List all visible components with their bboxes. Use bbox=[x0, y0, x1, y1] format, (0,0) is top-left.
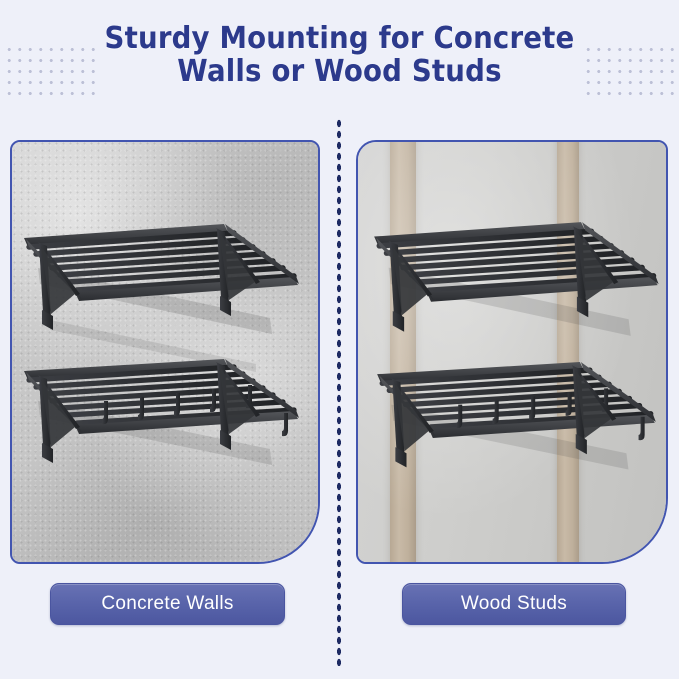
panel-concrete-image bbox=[12, 142, 318, 562]
page-title-line2: Walls or Wood Studs bbox=[27, 55, 652, 88]
shelf-upper-studs bbox=[370, 220, 666, 370]
caption-pill-concrete-walls-label: Concrete Walls bbox=[101, 593, 233, 615]
infographic-canvas: Sturdy Mounting for Concrete Walls or Wo… bbox=[0, 0, 679, 679]
panel-studs-image bbox=[358, 142, 666, 562]
page-title-line1: Sturdy Mounting for Concrete bbox=[105, 21, 575, 56]
shelf-upper-concrete bbox=[20, 222, 310, 367]
caption-pill-wood-studs-label: Wood Studs bbox=[461, 593, 567, 615]
caption-pill-wood-studs[interactable]: Wood Studs bbox=[402, 583, 626, 625]
panel-wood-studs bbox=[356, 140, 668, 564]
caption-pill-concrete-walls[interactable]: Concrete Walls bbox=[50, 583, 285, 625]
page-title: Sturdy Mounting for Concrete Walls or Wo… bbox=[27, 22, 652, 88]
shelf-lower-concrete bbox=[20, 357, 310, 507]
shelf-lower-studs bbox=[370, 360, 666, 512]
panel-concrete-walls bbox=[10, 140, 320, 564]
vertical-dotted-divider bbox=[336, 118, 342, 666]
